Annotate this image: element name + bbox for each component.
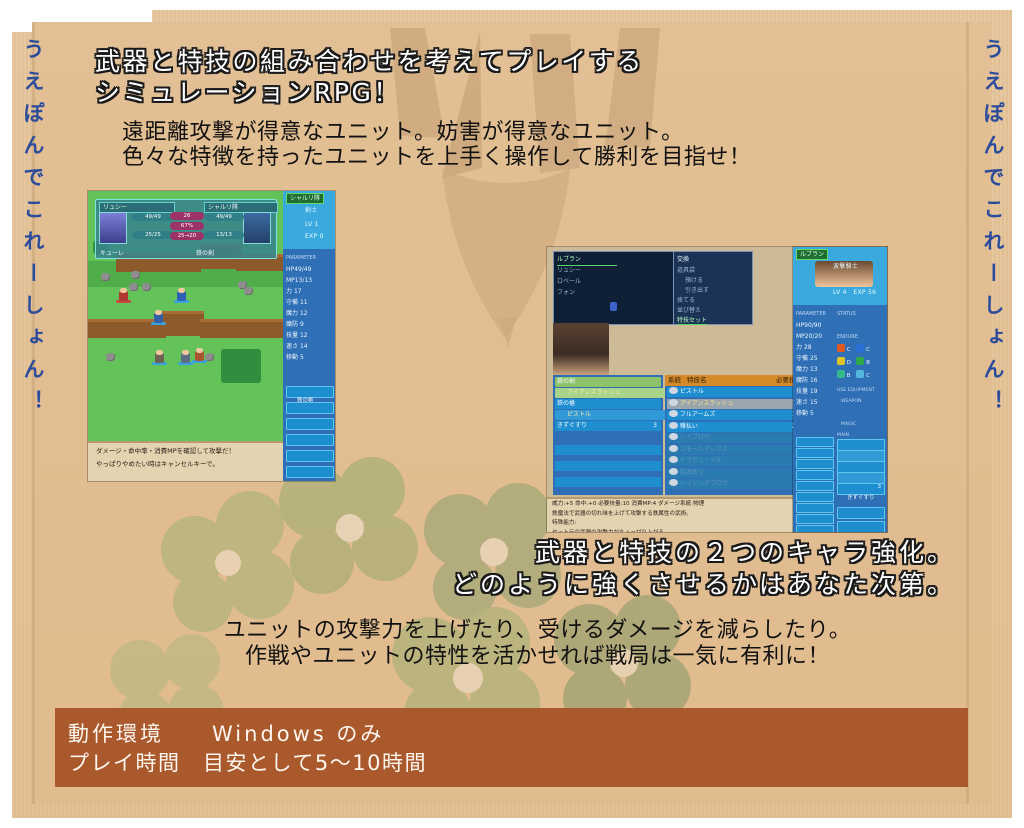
skill-system-icon	[669, 433, 678, 440]
status2-use-equipment-header: USE EQUIPMENT	[837, 385, 875, 396]
status2-left-slot[interactable]	[796, 470, 834, 480]
skill-name: アイアンスラッシュ	[680, 400, 733, 407]
status2-class-name: 波撃騎士	[833, 261, 858, 270]
param-value: 12	[300, 332, 308, 339]
skill-system-icon	[669, 399, 678, 406]
param-row: 魔力 12	[286, 308, 316, 319]
status-mp: MP13/13	[286, 275, 316, 286]
preview-attacker-mp: 25/25	[132, 231, 174, 239]
command-menu-item[interactable]: 並び替え	[677, 305, 701, 314]
skill-system-icon	[669, 422, 678, 429]
inventory-skill-name: アイアンスラッシュ	[567, 389, 620, 396]
side-banner-left: うえぽんでこれーしょん！	[22, 38, 43, 422]
skill-row[interactable]: アイアンスラッシュ 10	[667, 399, 803, 409]
status2-endure-grid: C C D B B C	[837, 344, 875, 382]
status2-header: ルブラン 波撃騎士 LV 4 EXP 56	[793, 247, 887, 305]
param-label: 速さ	[286, 343, 298, 350]
status2-left-slot[interactable]	[796, 459, 834, 469]
param-row: 守備 11	[286, 297, 316, 308]
mid-subtext-line-2: 作戦やユニットの特性を活かせれば戦局は一気に有利に！	[120, 644, 955, 670]
status2-left-slot[interactable]	[796, 481, 834, 491]
param-row: 力 17	[286, 286, 316, 297]
preview-defender-hp: 49/49	[204, 213, 244, 221]
status-panel-1: シャルリ隊 剣士 LV 1 EXP 0 PARAMETER HP49/49 MP…	[283, 191, 335, 481]
param-value: 12	[300, 310, 308, 317]
endure-cell: C	[856, 344, 874, 356]
inventory-slot[interactable]	[286, 466, 334, 478]
map-unit-ally-2[interactable]	[153, 311, 164, 324]
param-label: 魔防	[796, 377, 808, 384]
earth-icon	[837, 370, 845, 378]
param-value: 16	[810, 377, 818, 384]
skill-row[interactable]: レイブロウ	[667, 433, 803, 443]
param-row: 速さ 15	[796, 397, 826, 408]
param-row: 守備 25	[796, 353, 826, 364]
command-menu-item[interactable]: 引き出す	[685, 285, 709, 294]
skill-system-icon	[669, 410, 678, 417]
wind-icon	[856, 357, 864, 365]
map-unit-ally-3[interactable]	[154, 351, 165, 364]
param-value: 13	[810, 366, 818, 373]
map-unit-ally-4[interactable]	[180, 351, 191, 364]
footer-line-2: プレイ時間 目安として5〜10時間	[68, 749, 948, 778]
parameter-header: PARAMETER	[286, 253, 316, 264]
param-value: 28	[804, 344, 812, 351]
skill-row[interactable]: 裂波斬り	[667, 468, 803, 478]
skill-name: フルアームズ	[680, 411, 715, 418]
status-class-name: 剣士	[305, 205, 318, 214]
status2-magic-header: MAGIC	[837, 419, 875, 430]
status2-weapon-header: WEAPON	[837, 396, 875, 407]
midline-line-2: どのように強くさせるかはあなた次第。	[120, 569, 955, 601]
party-member[interactable]: リュシー	[557, 266, 581, 276]
param-value: 17	[294, 288, 302, 295]
skill-name: ピストル	[680, 388, 704, 395]
inventory-row-empty[interactable]	[555, 445, 661, 455]
status2-inventory-empty[interactable]	[837, 521, 885, 532]
skill-system-icon	[669, 479, 678, 486]
param-row: 移動 5	[796, 408, 826, 419]
param-row: 魔防 16	[796, 375, 826, 386]
skill-name: レイブロウ	[680, 434, 710, 441]
param-value: 5	[300, 354, 304, 361]
status2-params: 力 28 守備 25 魔力 13 魔防 16 技量 19 速さ 15 移動 5	[796, 342, 826, 419]
inventory-slot[interactable]: 鉄の剣	[286, 386, 334, 398]
inventory-item-name: 鉄の剣	[557, 378, 575, 385]
param-label: 力	[286, 288, 292, 295]
param-label: 守備	[796, 355, 808, 362]
param-label: 魔力	[796, 366, 808, 373]
param-row: 魔力 13	[796, 364, 826, 375]
status-header: シャルリ隊 剣士 LV 1 EXP 0	[283, 191, 335, 249]
skill-row[interactable]: スモールアックス	[667, 445, 803, 455]
party-member[interactable]: ロベール	[557, 277, 581, 287]
status2-unit-name: ルブラン	[796, 249, 828, 260]
status2-item-count: 3	[878, 484, 882, 490]
skill-system-icon	[669, 456, 678, 463]
endure-cell: C	[837, 344, 855, 356]
headline: 武器と特技の組み合わせを考えてプレイする シミュレーションRPG！	[95, 46, 895, 108]
map-unit-ally-5[interactable]	[194, 349, 205, 362]
param-label: 技量	[286, 332, 298, 339]
message-line-1: ダメージ・命中率・消費MPを確認して攻撃だ！	[88, 443, 283, 456]
param-row: 速さ 14	[286, 341, 316, 352]
subheadline-line-1: 遠距離攻撃が得意なユニット。妨害が得意なユニット。	[122, 120, 932, 145]
command-menu-item[interactable]: 道具袋	[677, 265, 695, 274]
skill-name: スモールアックス	[680, 446, 728, 453]
param-value: 11	[300, 299, 308, 306]
status-panel-2: ルブラン 波撃騎士 LV 4 EXP 56 PARAMETER HP90/90 …	[793, 247, 887, 532]
inventory-slot-label	[287, 478, 297, 481]
param-label: 力	[796, 344, 802, 351]
param-value: 19	[810, 388, 818, 395]
promo-page: うえぽんでこれーしょん！ うえぽんでこれーしょん！ 武器と特技の組み合わせを考え…	[0, 0, 1024, 828]
battle-preview-panel: リュシー シャルリ隊 49/49 25/25 49/49 13/13 26 67…	[95, 199, 277, 259]
inventory-row-empty[interactable]	[555, 461, 661, 471]
status-params: 力 17 守備 11 魔力 12 魔防 9 技量 12 速さ 14 移動 5	[286, 286, 316, 363]
mid-subtext: ユニットの攻撃力を上げたり、受けるダメージを減らしたり。 作戦やユニットの特性を…	[120, 618, 955, 670]
status2-endure-header: ENDURE	[837, 332, 875, 343]
command-menu-item[interactable]: 特技セット	[677, 315, 707, 325]
param-value: 9	[300, 321, 304, 328]
message-box: ダメージ・命中率・消費MPを確認して攻撃だ！ やっぱりやめたい時はキャンセルキー…	[88, 441, 283, 481]
status2-level-exp: LV 4 EXP 56	[833, 289, 876, 296]
skill-name: ドラグニードル	[680, 457, 722, 464]
midline: 武器と特技の２つのキャラ強化。 どのように強くさせるかはあなた次第。	[120, 537, 955, 601]
status2-left-slot[interactable]	[796, 514, 834, 524]
inventory-item-name: 鉄の槍	[557, 400, 575, 407]
param-label: 守備	[286, 299, 298, 306]
endure-cell: D	[837, 357, 855, 369]
inventory-row[interactable]: 鉄の槍	[555, 399, 661, 409]
field-right-edge	[966, 22, 969, 804]
skill-system-icon	[669, 445, 678, 452]
skill-row[interactable]: レイジングブロウ	[667, 479, 803, 489]
skill-row[interactable]: ドラグニードル	[667, 456, 803, 466]
fire-icon	[837, 344, 845, 352]
status2-status-header: STATUS	[837, 309, 875, 320]
skill-header-system: 系統	[668, 375, 681, 386]
skill-name: 裂波斬り	[680, 469, 704, 476]
status2-left-slot[interactable]	[796, 525, 834, 532]
inventory-item-count: 3	[653, 421, 657, 431]
status2-inventory-empty[interactable]	[837, 507, 885, 519]
param-value: 25	[810, 355, 818, 362]
inventory-row-skill[interactable]: ピストル	[555, 410, 671, 420]
game-screenshot-1: リュシー シャルリ隊 49/49 25/25 49/49 13/13 26 67…	[88, 191, 335, 481]
param-label: 速さ	[796, 399, 808, 406]
param-row: 魔防 9	[286, 319, 316, 330]
inventory-slot[interactable]	[286, 418, 334, 430]
endure-cell: B	[856, 357, 874, 369]
footer-line-1: 動作環境 Windows のみ	[68, 720, 948, 749]
status2-hp: HP90/90	[796, 320, 826, 331]
param-label: 魔防	[286, 321, 298, 328]
inventory-row[interactable]: 鉄の剣	[555, 377, 661, 387]
party-member[interactable]: フォン	[557, 288, 575, 298]
param-value: 5	[810, 410, 814, 417]
light-icon	[856, 370, 864, 378]
message-line-2: やっぱりやめたい時はキャンセルキーで。	[88, 456, 283, 469]
midline-line-1: 武器と特技の２つのキャラ強化。	[120, 537, 955, 569]
mid-subtext-line-1: ユニットの攻撃力を上げたり、受けるダメージを減らしたり。	[120, 618, 955, 644]
status-unit-name: シャルリ隊	[286, 193, 324, 204]
footer-text: 動作環境 Windows のみ プレイ時間 目安として5〜10時間	[68, 720, 948, 778]
status-level: LV 1	[305, 221, 319, 228]
status2-inventory-row[interactable]: きずぐすり 3	[837, 483, 885, 495]
param-row: 移動 5	[286, 352, 316, 363]
command-menu-item[interactable]: 捨てる	[677, 295, 695, 304]
param-label: 移動	[796, 410, 808, 417]
endure-cell: C	[856, 370, 874, 382]
param-label: 魔力	[286, 310, 298, 317]
headline-line-2: シミュレーションRPG！	[95, 77, 895, 108]
param-row: 力 28	[796, 342, 826, 353]
param-value: 14	[300, 343, 308, 350]
preview-defender-mp: 13/13	[204, 231, 244, 239]
preview-attacker-portrait	[99, 212, 127, 244]
inventory-row-skill[interactable]: アイアンスラッシュ	[555, 388, 671, 398]
skill-row[interactable]: 薙払い 20	[667, 422, 803, 432]
skill-list-header: 系統 特技名 必要技量	[665, 375, 805, 386]
subheadline: 遠距離攻撃が得意なユニット。妨害が得意なユニット。 色々な特徴を持ったユニットを…	[122, 120, 932, 170]
skill-system-icon	[669, 387, 678, 394]
inventory-row-empty[interactable]	[555, 477, 661, 487]
param-row: 技量 19	[796, 386, 826, 397]
status2-item-name: きずぐすり	[838, 495, 875, 501]
character-portrait	[553, 323, 609, 375]
inventory-item-name: きずぐすり	[557, 422, 587, 429]
endure-cell: B	[837, 370, 855, 382]
status2-left-slot[interactable]	[796, 492, 834, 502]
status-exp: EXP 0	[305, 233, 324, 240]
preview-defender-portrait	[243, 212, 271, 244]
preview-defender-weapon: 鉄の剣	[196, 248, 214, 257]
inventory-slot[interactable]	[286, 450, 334, 462]
skill-row[interactable]: ピストル 1	[667, 387, 803, 397]
skill-list: 系統 特技名 必要技量 ピストル 1 アイアンスラッシュ 10 フルアームズ 1…	[665, 375, 805, 495]
status2-left-slot[interactable]	[796, 503, 834, 513]
preview-damage: 26	[170, 212, 204, 220]
inventory-slot[interactable]	[286, 434, 334, 446]
skill-system-icon	[669, 468, 678, 475]
preview-attacker-skill: キューレ	[100, 248, 124, 257]
subheadline-line-2: 色々な特徴を持ったユニットを上手く操作して勝利を目指せ！	[122, 145, 932, 170]
headline-line-1: 武器と特技の組み合わせを考えてプレイする	[95, 46, 895, 77]
skill-header-name: 特技名	[687, 375, 707, 386]
status2-mp: MP20/20	[796, 331, 826, 342]
battle-map: リュシー シャルリ隊 49/49 25/25 49/49 13/13 26 67…	[88, 191, 283, 441]
command-menu-title: 交換	[677, 254, 689, 263]
party-member[interactable]: ルブラン	[557, 255, 617, 266]
inventory-skill-name: ピストル	[567, 411, 591, 418]
water-icon	[856, 344, 864, 352]
skill-name: レイジングブロウ	[680, 480, 728, 487]
param-label: 技量	[796, 388, 808, 395]
preview-attacker-hp: 49/49	[132, 213, 174, 221]
inventory-row[interactable]: きずぐすり 3	[555, 421, 661, 431]
skill-row[interactable]: フルアームズ 15	[667, 410, 803, 420]
inventory-list: 鉄の剣 アイアンスラッシュ鉄の槍 ピストルきずぐすり 3	[553, 375, 663, 495]
map-unit-enemy-1[interactable]	[118, 289, 129, 302]
status2-parameter-header: PARAMETER	[796, 309, 826, 320]
thunder-icon	[837, 357, 845, 365]
party-window: ルブランリュシーロベールフォン	[553, 251, 675, 325]
status-hp: HP49/49	[286, 264, 316, 275]
param-value: 15	[810, 399, 818, 406]
inventory-slot[interactable]	[286, 402, 334, 414]
status2-left-slot[interactable]	[796, 448, 834, 458]
skill-name: 薙払い	[680, 423, 698, 430]
command-menu: 交換道具袋預ける引き出す捨てる並び替え特技セット	[673, 251, 753, 325]
preview-mp-cost: 25→20	[170, 232, 204, 240]
command-menu-item[interactable]: 預ける	[685, 275, 703, 284]
map-cursor-icon	[610, 302, 617, 311]
status2-left-slot[interactable]	[796, 437, 834, 447]
map-unit-ally-target[interactable]	[176, 289, 187, 302]
param-label: 移動	[286, 354, 298, 361]
preview-hit-rate: 67%	[170, 222, 204, 230]
param-row: 技量 12	[286, 330, 316, 341]
side-banner-right: うえぽんでこれーしょん！	[982, 38, 1003, 422]
